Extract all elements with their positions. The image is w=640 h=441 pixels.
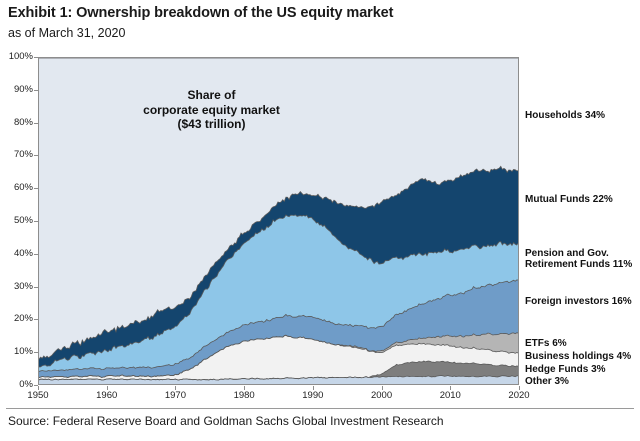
x-axis-tick-mark bbox=[519, 386, 520, 390]
x-axis-tick-label: 2000 bbox=[362, 390, 402, 401]
series-label-pension1: Pension and Gov. bbox=[525, 248, 609, 260]
x-axis-tick-mark bbox=[107, 386, 108, 390]
x-axis-tick-label: 1990 bbox=[293, 390, 333, 401]
y-axis-tick-label: 20% bbox=[0, 313, 33, 324]
series-label-pension2: Retirement Funds 11% bbox=[525, 259, 632, 271]
x-axis-tick-mark bbox=[244, 386, 245, 390]
x-axis-tick-label: 1950 bbox=[18, 390, 58, 401]
series-label-foreign: Foreign investors 16% bbox=[525, 296, 632, 308]
x-axis-tick-label: 1980 bbox=[224, 390, 264, 401]
x-axis-tick-mark bbox=[38, 386, 39, 390]
x-axis-tick-mark bbox=[382, 386, 383, 390]
footer-divider bbox=[6, 408, 634, 409]
page-subtitle: as of March 31, 2020 bbox=[8, 26, 125, 40]
series-label-households: Households 34% bbox=[525, 110, 605, 122]
y-axis-tick-label: 100% bbox=[0, 51, 33, 62]
y-axis-tick-label: 0% bbox=[0, 379, 33, 390]
series-label-other: Other 3% bbox=[525, 376, 569, 388]
y-axis-tick-label: 30% bbox=[0, 281, 33, 292]
y-axis-tick-label: 90% bbox=[0, 84, 33, 95]
x-axis-tick-label: 2010 bbox=[430, 390, 470, 401]
series-label-etfs: ETFs 6% bbox=[525, 338, 567, 350]
y-axis-tick-label: 60% bbox=[0, 182, 33, 193]
series-label-mutual: Mutual Funds 22% bbox=[525, 194, 613, 206]
y-axis-tick-label: 10% bbox=[0, 346, 33, 357]
annotation-line-3: ($43 trillion) bbox=[104, 117, 319, 132]
x-axis-tick-label: 1970 bbox=[155, 390, 195, 401]
chart-annotation: Share of corporate equity market ($43 tr… bbox=[104, 88, 319, 132]
x-axis-tick-mark bbox=[450, 386, 451, 390]
annotation-line-2: corporate equity market bbox=[104, 103, 319, 118]
y-axis-tick-label: 80% bbox=[0, 117, 33, 128]
y-axis-tick-label: 50% bbox=[0, 215, 33, 226]
x-axis-tick-mark bbox=[313, 386, 314, 390]
y-axis-tick-label: 70% bbox=[0, 149, 33, 160]
y-axis-tick-label: 40% bbox=[0, 248, 33, 259]
series-label-hedge: Hedge Funds 3% bbox=[525, 364, 606, 376]
series-label-business: Business holdings 4% bbox=[525, 351, 631, 363]
source-note: Source: Federal Reserve Board and Goldma… bbox=[8, 414, 444, 428]
annotation-line-1: Share of bbox=[104, 88, 319, 103]
page-title: Exhibit 1: Ownership breakdown of the US… bbox=[8, 5, 393, 21]
x-axis-tick-mark bbox=[175, 386, 176, 390]
exhibit-chart-panel: Exhibit 1: Ownership breakdown of the US… bbox=[0, 0, 640, 441]
x-axis-tick-label: 1960 bbox=[87, 390, 127, 401]
x-axis-tick-label: 2020 bbox=[499, 390, 539, 401]
